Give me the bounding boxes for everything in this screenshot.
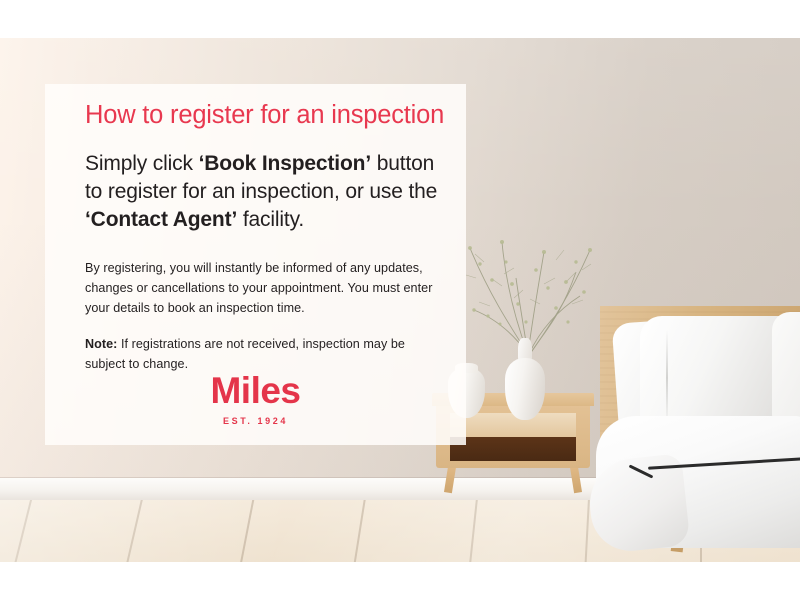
registration-paragraph: By registering, you will instantly be in… — [85, 258, 444, 319]
pillow-right — [772, 312, 800, 432]
body-copy: By registering, you will instantly be in… — [67, 258, 444, 375]
book-inspection-emphasis: ‘Book Inspection’ — [199, 152, 371, 175]
note-text: If registrations are not received, inspe… — [85, 337, 405, 371]
page-title: How to register for an inspection — [67, 100, 444, 134]
note-label: Note: — [85, 337, 117, 351]
lede-part-3: facility. — [237, 208, 304, 231]
large-vase — [505, 358, 545, 420]
info-card: How to register for an inspection Simply… — [45, 84, 466, 445]
nightstand-leg — [444, 466, 456, 493]
poster-canvas: How to register for an inspection Simply… — [0, 0, 800, 600]
dried-branches — [440, 226, 620, 356]
logo-wordmark: Miles — [45, 372, 466, 409]
letterbox-bar-bottom — [0, 562, 800, 600]
letterbox-bar-top — [0, 0, 800, 38]
logo-established-text: EST. 1924 — [45, 417, 466, 426]
lede-part-1: Simply click — [85, 152, 199, 175]
lede-paragraph: Simply click ‘Book Inspection’ button to… — [67, 150, 444, 234]
nightstand-drawer-lower — [450, 437, 576, 461]
note-paragraph: Note: If registrations are not received,… — [85, 334, 444, 375]
contact-agent-emphasis: ‘Contact Agent’ — [85, 208, 237, 231]
nightstand-leg — [570, 466, 582, 493]
brand-logo: Miles EST. 1924 — [45, 372, 466, 426]
